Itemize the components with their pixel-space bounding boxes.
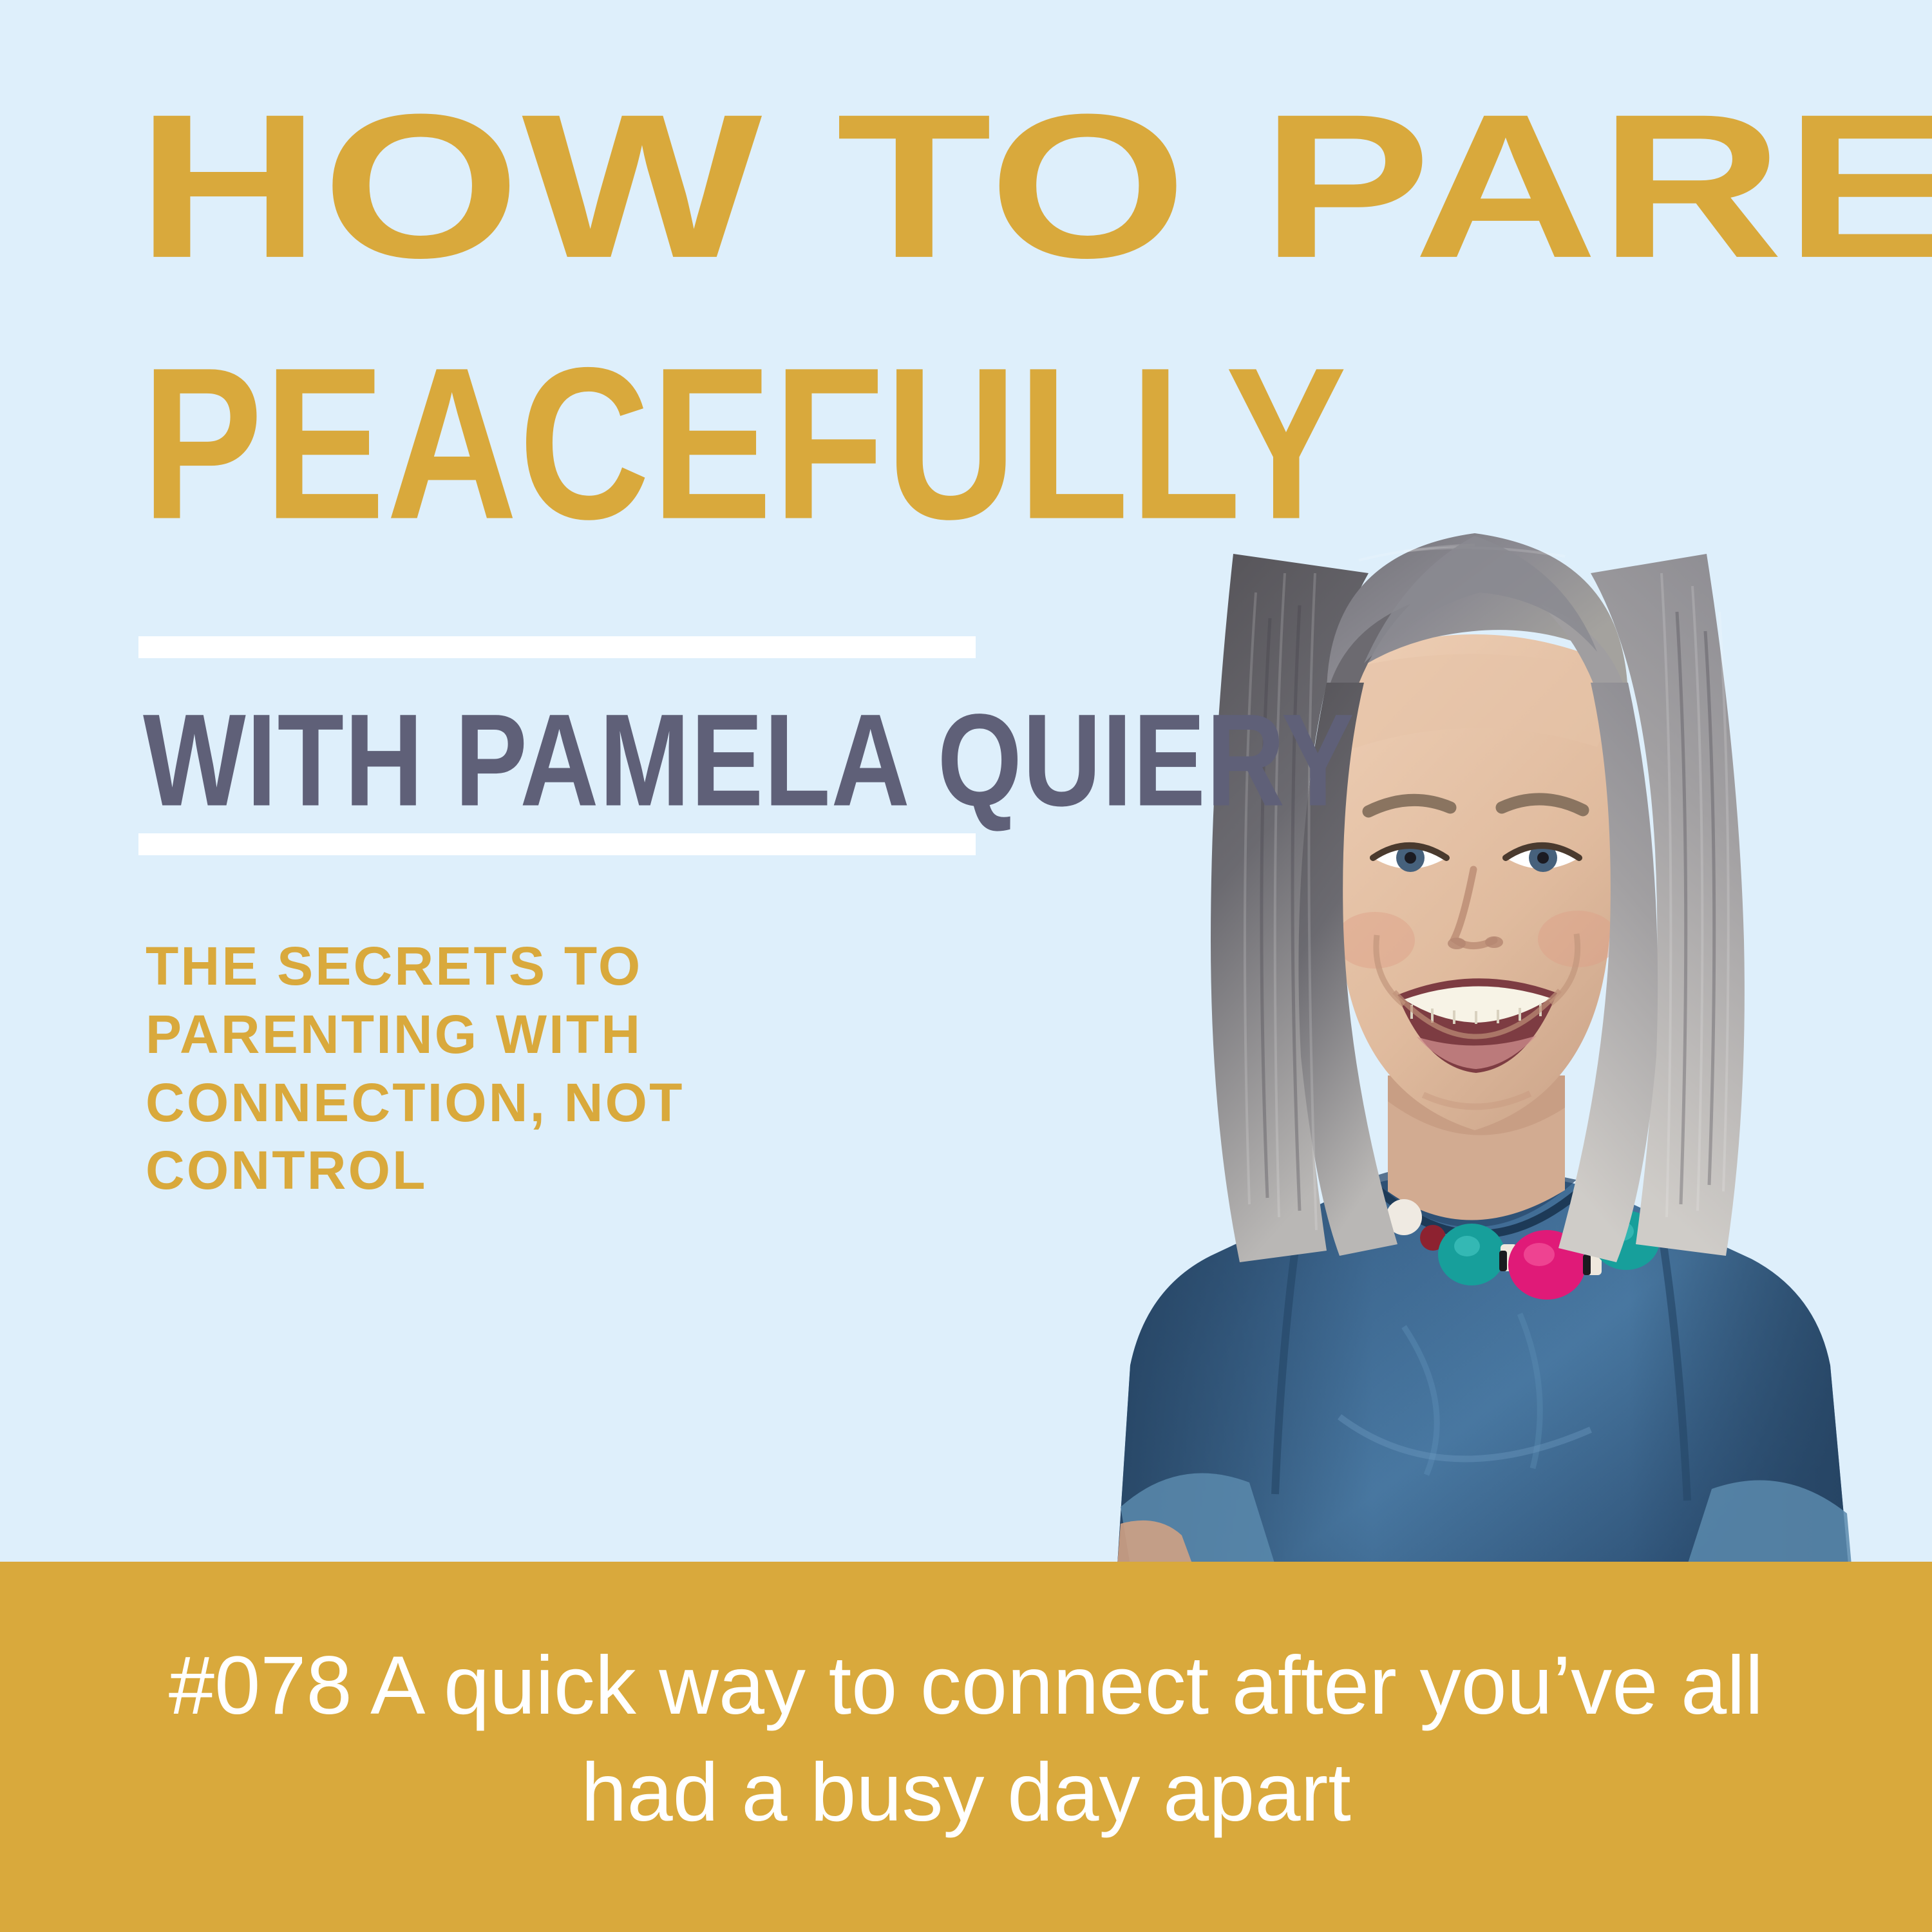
tagline-row-4: CONTROL (146, 1137, 867, 1205)
host-name: WITH PAMELA QUIERY (143, 694, 1355, 826)
tagline-row-3: CONNECTION, NOT (146, 1069, 867, 1137)
divider-bottom (138, 833, 976, 855)
podcast-cover-art: HOW TO PARENT PEACEFULLY WITH PAMELA QUI… (0, 0, 1932, 1932)
divider-top (138, 636, 976, 658)
page-title-line-2: PEACEFULLY (142, 335, 1348, 551)
episode-title: #078 A quick way to connect after you’ve… (0, 1633, 1932, 1847)
page-title-line-1: HOW TO PARENT (137, 84, 1932, 289)
tagline-row-2: PARENTING WITH (146, 1001, 867, 1069)
tagline-row-1: THE SECRETS TO (146, 933, 867, 1001)
show-tagline: THE SECRETS TO PARENTING WITH CONNECTION… (146, 933, 867, 1205)
episode-banner: #078 A quick way to connect after you’ve… (0, 1562, 1932, 1932)
